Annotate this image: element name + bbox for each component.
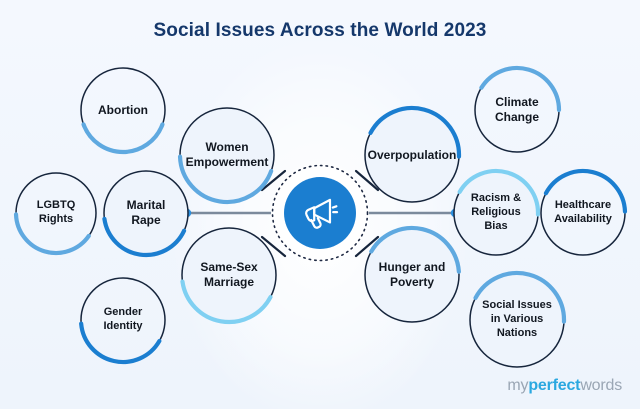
node-climate-change[interactable] xyxy=(475,68,559,152)
node-marital-rape[interactable] xyxy=(104,171,188,255)
node-gender-identity[interactable] xyxy=(81,278,165,362)
node-racism-religious-bias[interactable] xyxy=(454,171,538,255)
node-accent-arc-healthcare-availability xyxy=(546,171,625,212)
node-accent-arc-climate-change xyxy=(481,68,559,110)
node-accent-arc-lgbtq-rights xyxy=(16,214,89,253)
logo-part-words: words xyxy=(580,377,622,394)
node-accent-arc-gender-identity xyxy=(81,324,159,362)
node-women-empowerment[interactable] xyxy=(180,108,274,202)
node-overpopulation[interactable] xyxy=(365,108,459,202)
node-same-sex-marriage[interactable] xyxy=(182,228,276,322)
center-hub xyxy=(271,164,369,262)
node-accent-arc-abortion xyxy=(84,124,163,152)
logo-part-perfect: perfect xyxy=(528,377,580,394)
node-abortion[interactable] xyxy=(81,68,165,152)
hub-circle[interactable] xyxy=(284,177,356,249)
node-social-issues-nations[interactable] xyxy=(470,273,564,367)
diagram-canvas xyxy=(0,0,640,409)
logo-part-my: my xyxy=(507,377,528,394)
node-hunger-poverty[interactable] xyxy=(365,228,459,322)
node-healthcare-availability[interactable] xyxy=(541,171,625,255)
brand-logo: myperfectwords xyxy=(507,377,622,395)
node-lgbtq-rights[interactable] xyxy=(16,173,96,253)
infographic-root: Social Issues Across the World 2023 Abor… xyxy=(0,0,640,409)
